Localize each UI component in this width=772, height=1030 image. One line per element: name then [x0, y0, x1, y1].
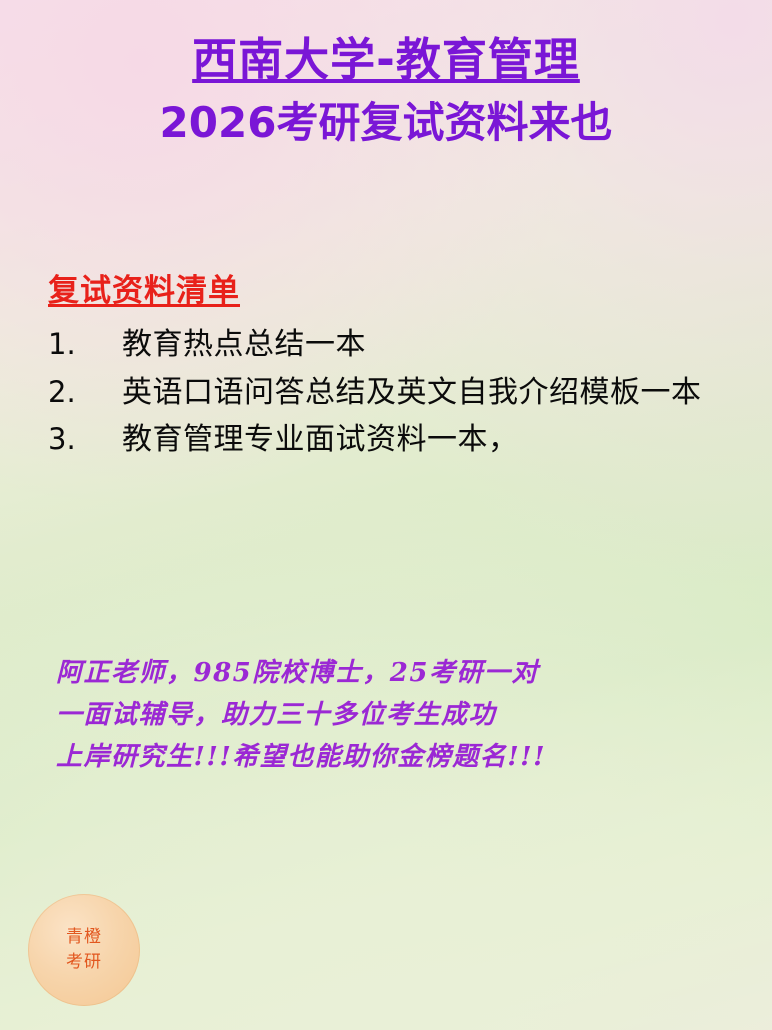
list-item: 3. 教育管理专业面试资料一本，	[48, 417, 748, 463]
list-item-number: 1.	[48, 322, 122, 366]
list-item-label: 英语口语问答总结及英文自我介绍模板一本	[122, 370, 748, 416]
list-item-number: 3.	[48, 417, 122, 461]
list-item-label: 教育热点总结一本	[122, 322, 748, 368]
list-item: 2. 英语口语问答总结及英文自我介绍模板一本	[48, 370, 748, 416]
list-item: 1. 教育热点总结一本	[48, 322, 748, 368]
signature-line-2: 一面试辅导，助力三十多位考生成功	[56, 694, 756, 736]
list-item-number: 2.	[48, 370, 122, 414]
badge-line-2: 考研	[66, 950, 102, 975]
title-line-2: 2026考研复试资料来也	[0, 95, 772, 152]
signature-line-1: 阿正老师，985院校博士，25考研一对	[56, 652, 756, 694]
signature-line-3: 上岸研究生!!!希望也能助你金榜题名!!!	[56, 736, 756, 778]
material-list: 1. 教育热点总结一本 2. 英语口语问答总结及英文自我介绍模板一本 3. 教育…	[48, 322, 748, 465]
poster-canvas: 西南大学-教育管理 2026考研复试资料来也 复试资料清单 1. 教育热点总结一…	[0, 0, 772, 1030]
title-line-1: 西南大学-教育管理	[0, 30, 772, 91]
badge-line-1: 青橙	[66, 925, 102, 950]
list-heading: 复试资料清单	[48, 265, 240, 310]
list-item-label: 教育管理专业面试资料一本，	[122, 417, 748, 463]
brand-badge: 青橙 考研	[28, 894, 140, 1006]
poster-title: 西南大学-教育管理 2026考研复试资料来也	[0, 30, 772, 151]
signature-block: 阿正老师，985院校博士，25考研一对 一面试辅导，助力三十多位考生成功 上岸研…	[56, 652, 756, 778]
